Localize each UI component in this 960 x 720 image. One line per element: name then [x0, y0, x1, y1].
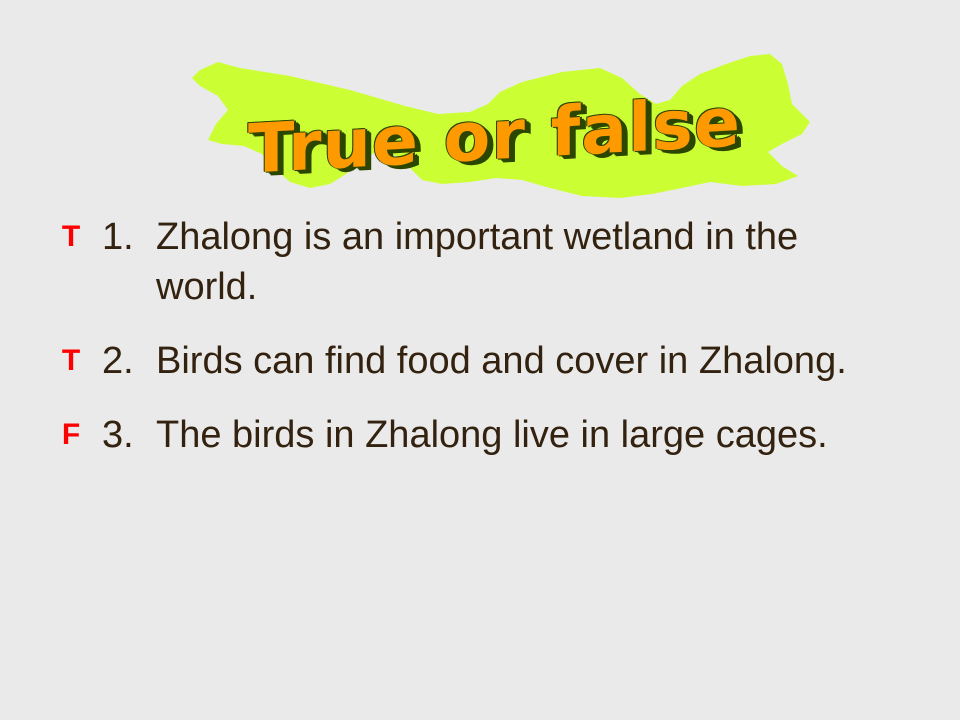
list-item: T 2. Birds can find food and cover in Zh… — [40, 336, 930, 386]
title-wordart: True or false — [170, 48, 810, 208]
title-text: True or false — [248, 83, 741, 190]
item-text-2: Birds can find food and cover in Zhalong… — [156, 336, 886, 386]
answer-mark-3: F — [40, 410, 102, 460]
item-number-1: 1. — [102, 212, 156, 262]
answer-mark-2: T — [40, 336, 102, 386]
item-number-2: 2. — [102, 336, 156, 386]
slide-canvas: True or false T 1. Zhalong is an importa… — [0, 0, 960, 720]
item-text-3: The birds in Zhalong live in large cages… — [156, 410, 886, 460]
true-false-question-list: T 1. Zhalong is an important wetland in … — [40, 212, 930, 484]
answer-mark-1: T — [40, 212, 102, 262]
list-item: F 3. The birds in Zhalong live in large … — [40, 410, 930, 460]
list-item: T 1. Zhalong is an important wetland in … — [40, 212, 930, 312]
item-number-3: 3. — [102, 410, 156, 460]
item-text-1: Zhalong is an important wetland in the w… — [156, 212, 886, 312]
title-text-wrap: True or false — [170, 48, 810, 208]
